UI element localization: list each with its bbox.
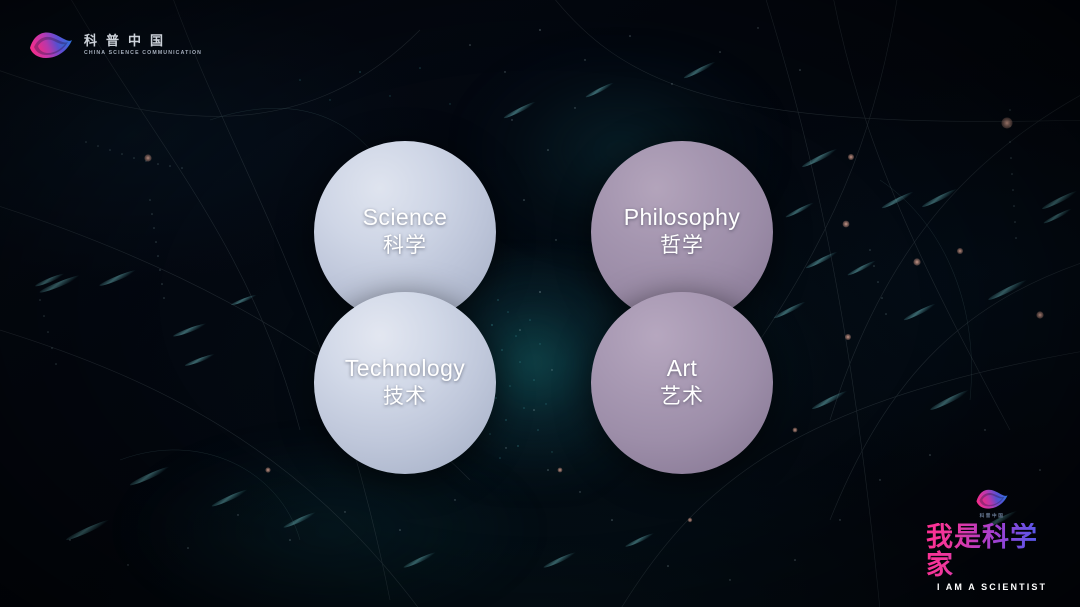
bubble-technology-cn-label: 技术 (383, 384, 427, 410)
wave-mark-icon (28, 28, 74, 62)
bubble-technology-en-label: Technology (345, 356, 465, 382)
program-cn-title: 我是科学家 (926, 523, 1058, 580)
brand-sub-mark: 科普中国 (980, 513, 1005, 519)
bubble-art[interactable]: Art 艺术 (591, 292, 773, 474)
brand-logo-top-left: 科普中国 CHINA SCIENCE COMMUNICATION (28, 28, 202, 62)
bubble-science-cn-label: 科学 (383, 233, 427, 259)
wave-mark-icon (975, 486, 1009, 512)
brand-wordmark: 科普中国 CHINA SCIENCE COMMUNICATION (84, 34, 202, 57)
bubble-philosophy-en-label: Philosophy (624, 205, 741, 231)
concept-bubbles-group: Science 科学 Philosophy 哲学 Technology 技术 A… (0, 0, 1080, 607)
bubble-philosophy-cn-label: 哲学 (660, 233, 704, 259)
bubble-art-cn-label: 艺术 (660, 384, 704, 410)
brand-en-name: CHINA SCIENCE COMMUNICATION (84, 50, 202, 56)
brand-logo-bottom-right: 科普中国 我是科学家 I AM A SCIENTIST (926, 486, 1058, 593)
bubble-technology[interactable]: Technology 技术 (314, 292, 496, 474)
program-en-title: I AM A SCIENTIST (937, 582, 1047, 593)
bubble-art-en-label: Art (667, 356, 698, 382)
brand-cn-name: 科普中国 (84, 34, 202, 48)
bubble-science-en-label: Science (363, 205, 448, 231)
slide-canvas: Science 科学 Philosophy 哲学 Technology 技术 A… (0, 0, 1080, 607)
